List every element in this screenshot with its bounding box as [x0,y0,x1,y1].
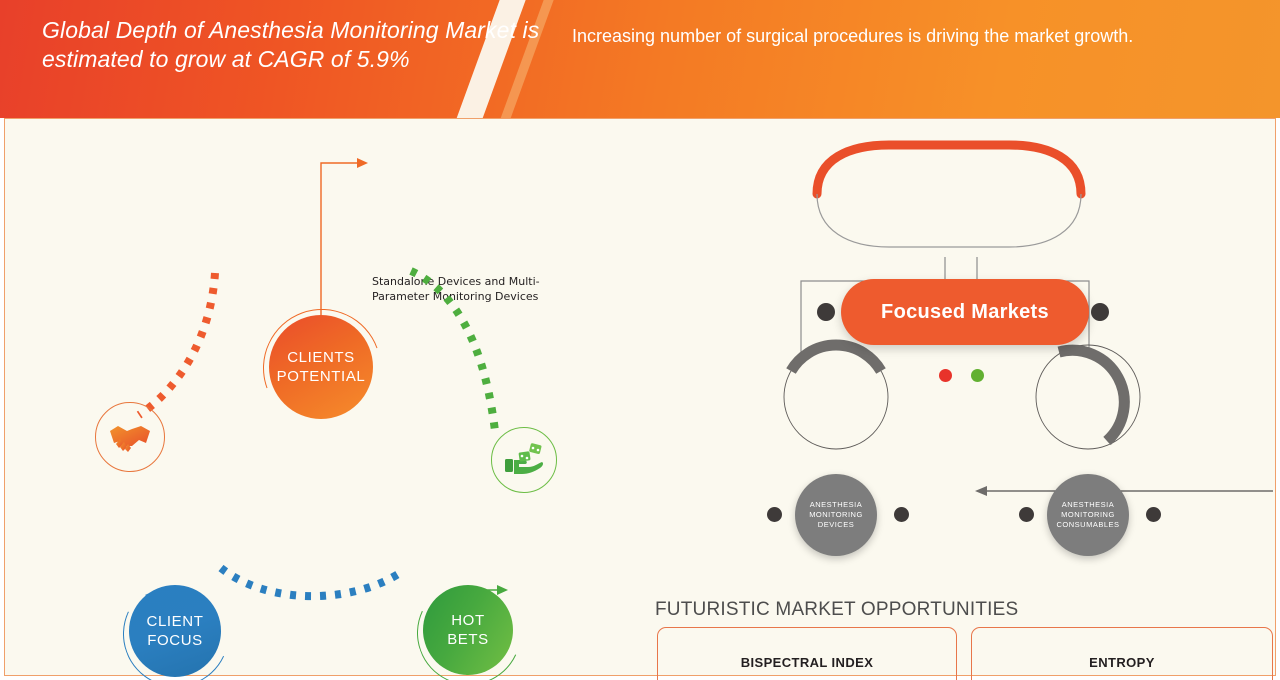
focused-markets-left-dot [817,303,835,321]
header-subtitle: Increasing number of surgical procedures… [572,24,1232,49]
node-anesthesia-monitoring-consumables-label: ANESTHESIAMONITORINGCONSUMABLES [1056,500,1119,530]
content-panel: CLIENTSPOTENTIAL CLIENTFOCUS HOTBETS [4,118,1276,676]
focused-markets-right-dot [1091,303,1109,321]
focused-markets-label: Focused Markets [881,301,1049,324]
handshake-icon [95,402,165,472]
node-clients-potential[interactable]: CLIENTSPOTENTIAL [269,315,373,419]
gray-node-2-left-dot [1019,507,1034,522]
node-client-focus-label: CLIENTFOCUS [147,612,204,650]
focused-markets-pill[interactable]: Focused Markets [841,279,1089,345]
money-in-hand-icon [491,427,557,493]
node-hot-bets-label: HOTBETS [447,611,489,649]
node-anesthesia-monitoring-devices[interactable]: ANESTHESIAMONITORINGDEVICES [795,474,877,556]
dotted-arc-orange [139,273,215,415]
node-client-focus[interactable]: CLIENTFOCUS [129,585,221,677]
connector-clients-potential [321,163,357,315]
right-diagram-connectors [617,119,1277,675]
node-anesthesia-monitoring-devices-label: ANESTHESIAMONITORINGDEVICES [809,500,863,530]
node-hot-bets[interactable]: HOTBETS [423,585,513,675]
pill-bottom-arc [817,194,1081,247]
red-branch-dot [939,369,952,382]
dotted-arc-blue [221,568,403,596]
page-title: Global Depth of Anesthesia Monitoring Ma… [42,16,542,74]
node-anesthesia-monitoring-consumables[interactable]: ANESTHESIAMONITORINGCONSUMABLES [1047,474,1129,556]
futuristic-arrowhead [975,486,987,496]
gray-node-1-left-dot [767,507,782,522]
dotted-arc-green [411,271,495,431]
pill-top-arc [817,145,1081,194]
gray-node-2-right-dot [1146,507,1161,522]
gray-node-2-thick-arc [1059,350,1124,441]
money-in-hand-icon-glyph [504,442,544,478]
green-branch-dot [971,369,984,382]
node-clients-potential-label: CLIENTSPOTENTIAL [277,348,366,386]
gray-node-1-right-dot [894,507,909,522]
handshake-icon-glyph [108,419,152,455]
arrowhead-clients-potential [357,158,368,168]
header-banner: Global Depth of Anesthesia Monitoring Ma… [0,0,1280,118]
infographic-root: Global Depth of Anesthesia Monitoring Ma… [0,0,1280,680]
gray-node-1-thick-arc [791,345,881,371]
